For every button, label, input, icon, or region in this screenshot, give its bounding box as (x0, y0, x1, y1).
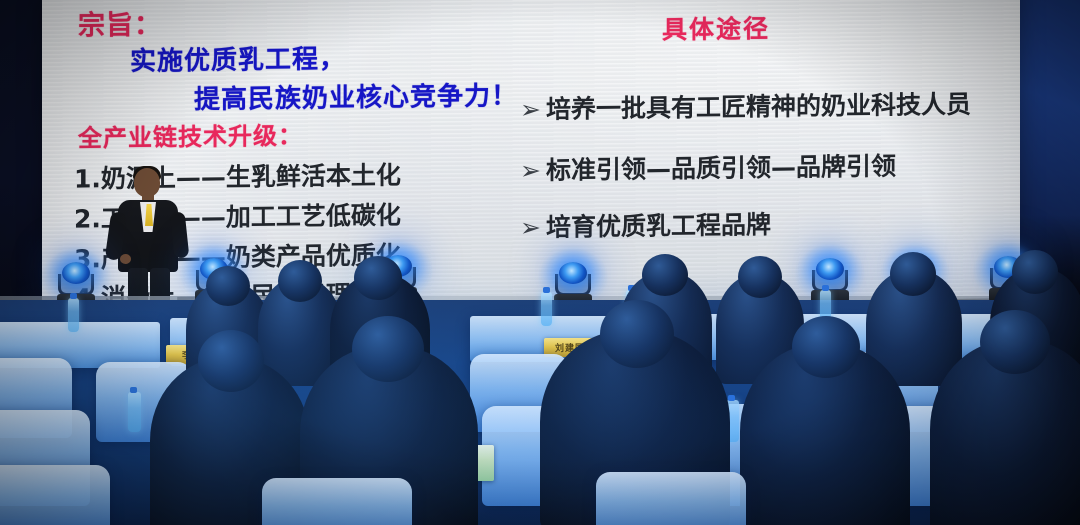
slide-right-title: 具体途径 (662, 9, 770, 46)
audience-chair-front (0, 465, 110, 525)
water-bottle (541, 292, 552, 326)
audience-chair-front (262, 478, 412, 525)
audience-member-head (354, 256, 402, 300)
water-bottle (68, 298, 79, 332)
audience-chair-front (596, 472, 746, 525)
audience-member-head (278, 260, 322, 302)
conference-photo: 宗旨： 实施优质乳工程， 提高民族奶业核心竞争力！ 全产业链技术升级： 1.奶源… (0, 0, 1080, 525)
audience-member-head (198, 330, 264, 392)
audience-member-head (890, 252, 936, 296)
slide-left-line-1: 实施优质乳工程， (130, 38, 346, 78)
light-lens-icon (62, 262, 90, 284)
water-bottle (128, 392, 141, 432)
speaker-presenter (104, 168, 200, 310)
slide-right-item-2: ➢标准引领—品质引领—品牌引领 (520, 147, 896, 188)
arrow-bullet-icon: ➢ (520, 156, 546, 185)
slide-left-title: 宗旨： (78, 3, 162, 43)
audience-member-head (980, 310, 1050, 374)
arrow-bullet-icon: ➢ (520, 95, 546, 124)
light-lens-icon (816, 258, 844, 280)
audience-member-head (1012, 250, 1058, 294)
slide-right-item-2-label: 标准引领—品质引领—品牌引领 (546, 152, 896, 185)
slide-left-subtitle: 全产业链技术升级： (78, 116, 303, 154)
audience-area: 李明 张强 刘建国 (0, 300, 1080, 525)
audience-member-head (206, 266, 250, 306)
audience-member-head (738, 256, 782, 298)
slide-left-line-2: 提高民族奶业核心竞争力！ (194, 75, 518, 116)
speaker-hand-with-remote (120, 254, 131, 264)
audience-member-head (352, 316, 424, 382)
audience-member-head (792, 316, 860, 378)
audience-member-head (642, 254, 688, 296)
audience-member-head (600, 300, 674, 368)
light-lens-icon (559, 262, 587, 284)
slide-right-item-1: ➢培养一批具有工匠精神的奶业科技人员 (520, 85, 971, 127)
slide-right-item-3: ➢培育优质乳工程品牌 (520, 205, 771, 244)
slide-right-item-3-label: 培育优质乳工程品牌 (546, 210, 771, 242)
speaker-head (134, 168, 160, 197)
arrow-bullet-icon: ➢ (520, 213, 546, 242)
slide-right-item-1-label: 培养一批具有工匠精神的奶业科技人员 (546, 90, 971, 124)
